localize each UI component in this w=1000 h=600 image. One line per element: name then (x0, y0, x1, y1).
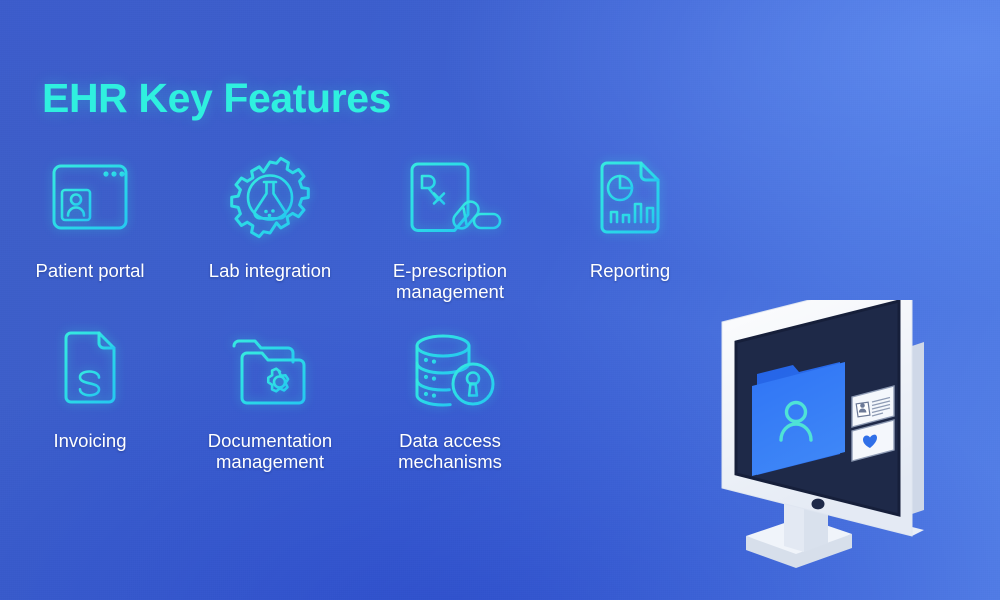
feature-label: E-prescription management (393, 260, 507, 302)
feature-reporting[interactable]: Reporting (540, 148, 720, 318)
features-row-2: Invoicing Documentation management (0, 318, 720, 488)
document-dollar-icon (38, 318, 142, 422)
feature-documentation-management[interactable]: Documentation management (180, 318, 360, 488)
database-lock-icon (395, 318, 505, 422)
desktop-monitor-illustration (700, 300, 1000, 600)
feature-lab-integration[interactable]: Lab integration (180, 148, 360, 318)
feature-label: Patient portal (35, 260, 144, 281)
feature-patient-portal[interactable]: Patient portal (0, 148, 180, 318)
document-charts-icon (578, 148, 682, 252)
features-row-1: Patient portal Lab integration (0, 148, 720, 318)
feature-label: Invoicing (53, 430, 126, 451)
browser-person-icon (38, 148, 142, 252)
feature-label: Lab integration (209, 260, 331, 281)
feature-data-access[interactable]: Data access mechanisms (360, 318, 540, 488)
gear-flask-icon (218, 148, 322, 252)
feature-invoicing[interactable]: Invoicing (0, 318, 180, 488)
feature-label: Reporting (590, 260, 670, 281)
slide-canvas: EHR Key Features (0, 0, 1000, 600)
page-title: EHR Key Features (42, 75, 391, 122)
feature-label: Data access mechanisms (398, 430, 502, 472)
folder-gear-icon (216, 318, 324, 422)
feature-e-prescription[interactable]: E-prescription management (360, 148, 540, 318)
feature-label: Documentation management (208, 430, 332, 472)
features-grid: Patient portal Lab integration (0, 148, 720, 488)
rx-document-pills-icon (394, 148, 506, 252)
